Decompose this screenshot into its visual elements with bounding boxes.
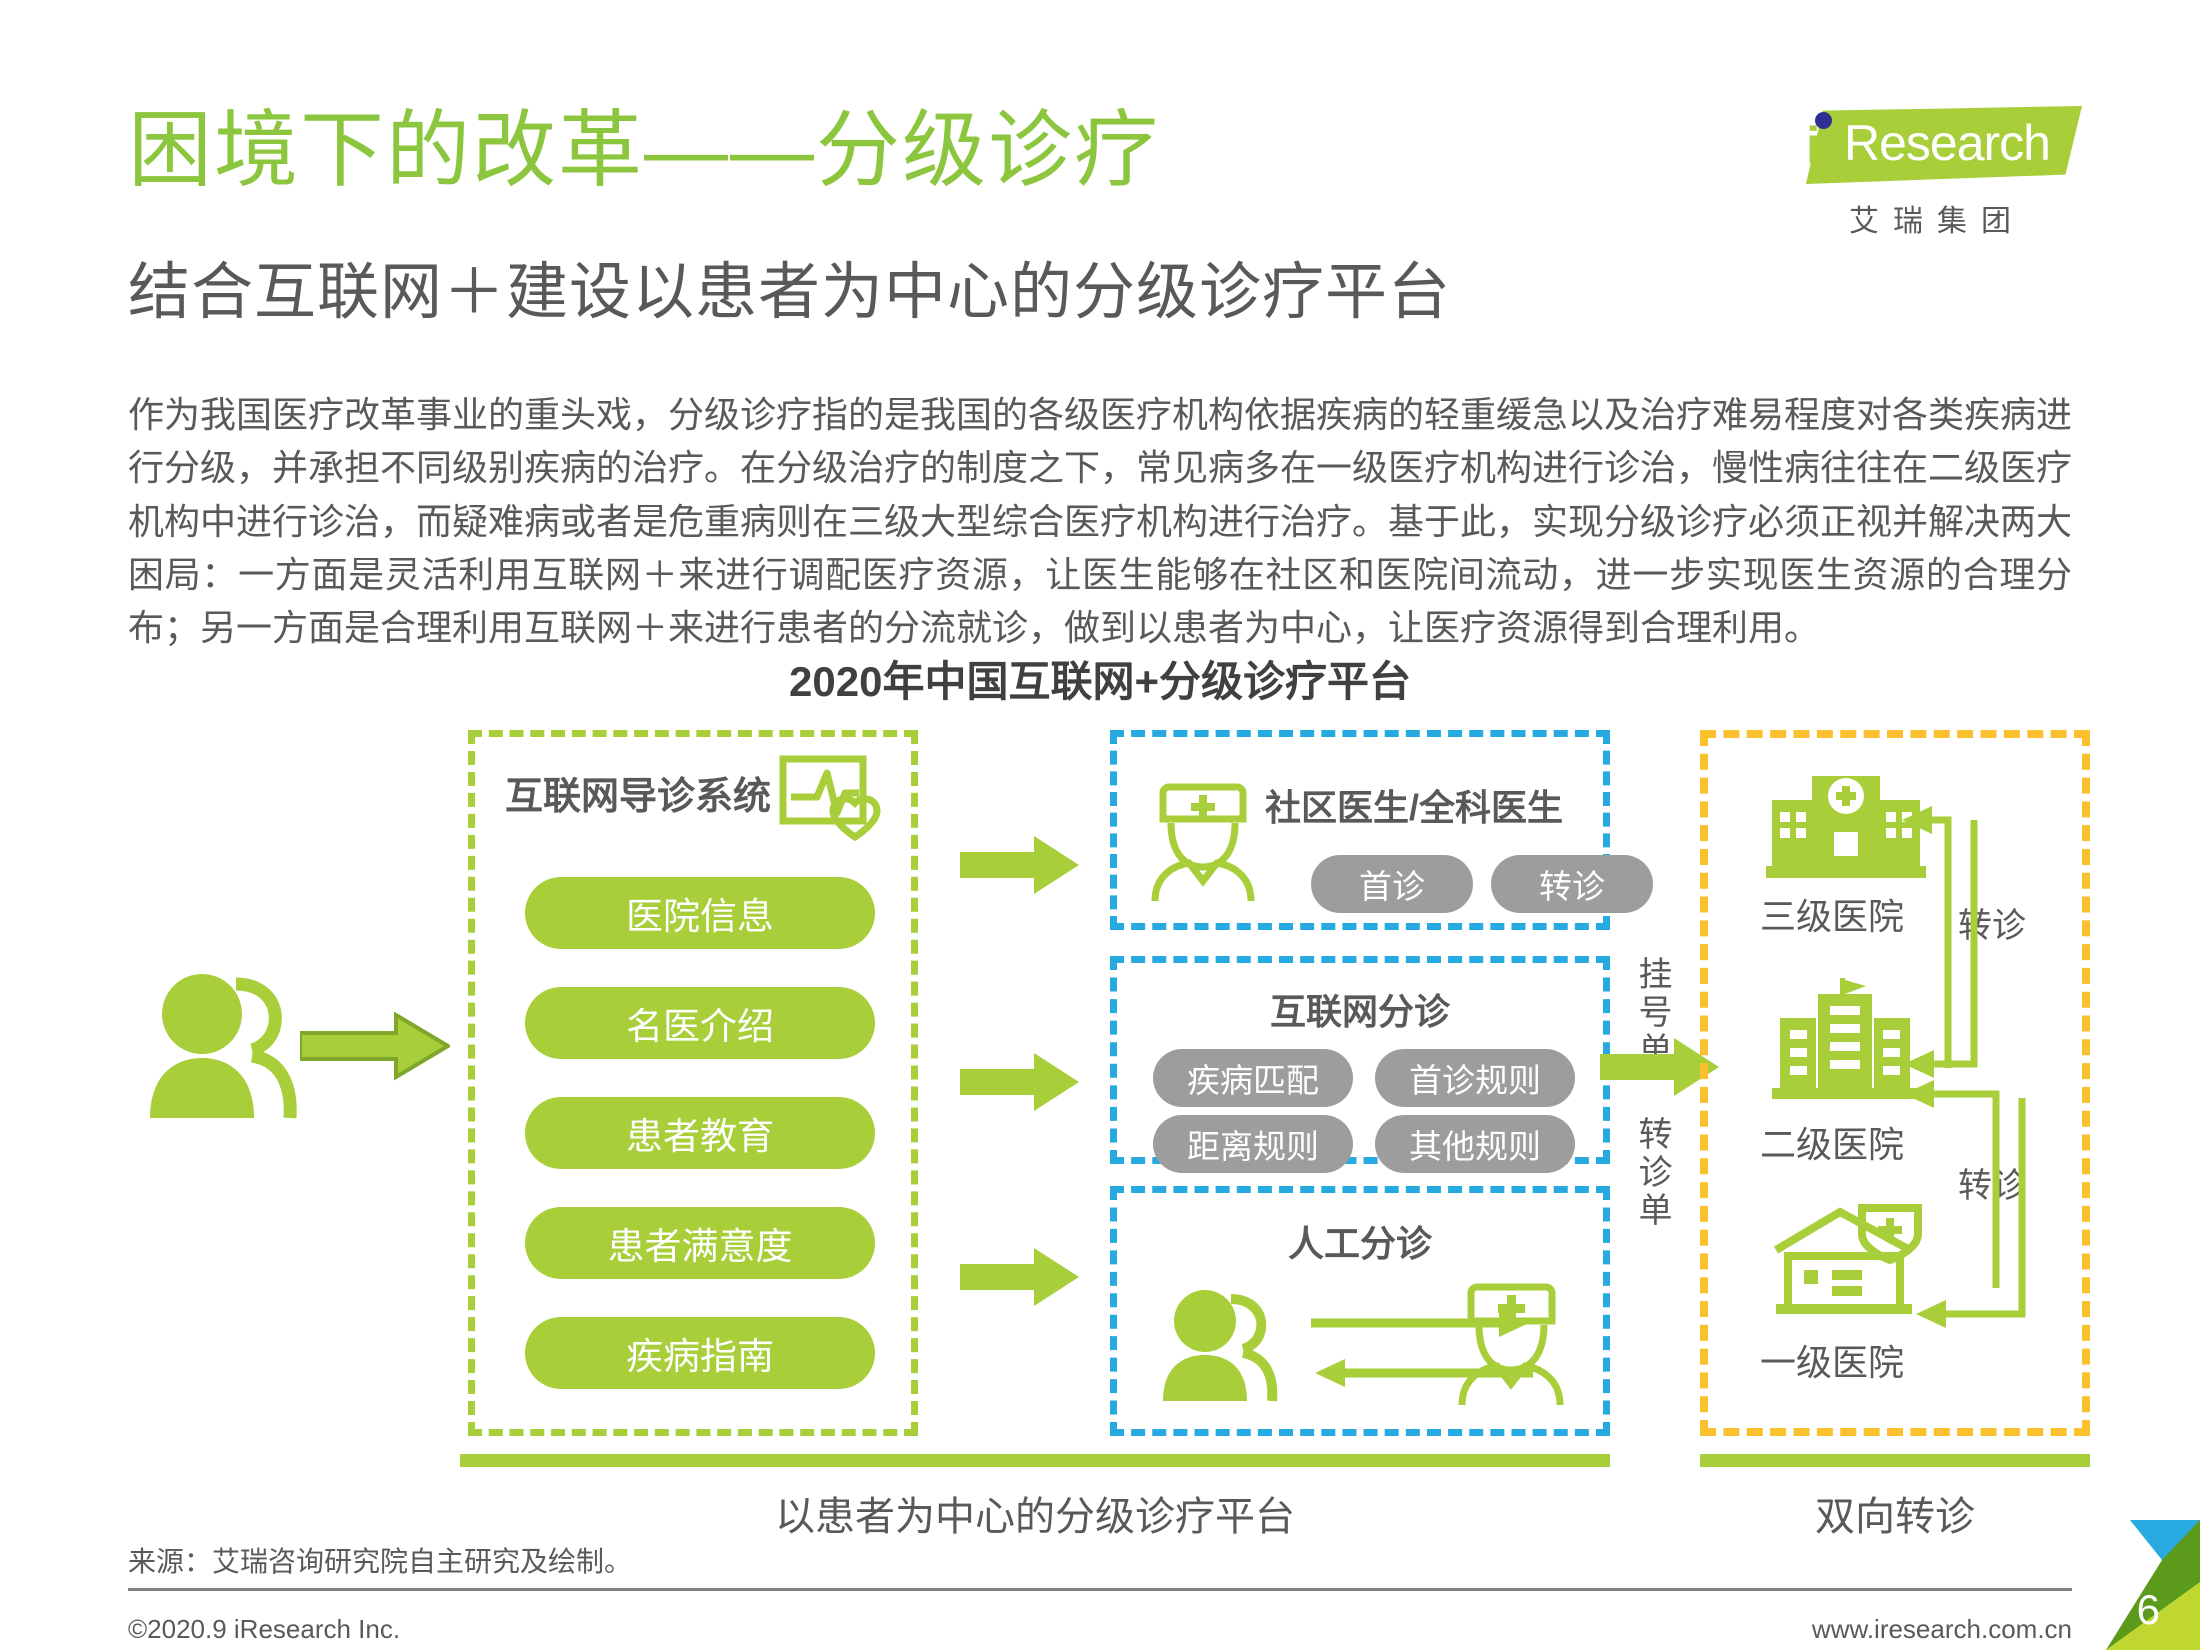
- hospital-level-label-primary: 一级医院: [1760, 1334, 1904, 1386]
- internet-triage-heading: 互联网分诊: [1117, 983, 1603, 1035]
- doctor-icon: [1454, 1275, 1569, 1407]
- guidance-item-hospital-info[interactable]: 医院信息: [525, 877, 875, 949]
- internet-triage-panel: 互联网分诊 疾病匹配 首诊规则 距离规则 其他规则: [1110, 956, 1610, 1164]
- guidance-item-patient-satisfaction[interactable]: 患者满意度: [525, 1207, 875, 1279]
- triage-pill-disease-match[interactable]: 疾病匹配: [1153, 1049, 1353, 1107]
- guidance-item-patient-education[interactable]: 患者教育: [525, 1097, 875, 1169]
- hospital-level-label-secondary: 二级医院: [1760, 1116, 1904, 1168]
- iresearch-logo: i Research 艾瑞集团: [1792, 104, 2082, 244]
- triage-pill-other-rule[interactable]: 其他规则: [1375, 1115, 1575, 1173]
- source-note: 来源：艾瑞咨询研究院自主研究及绘制。: [128, 1540, 632, 1580]
- community-pill-referral[interactable]: 转诊: [1491, 855, 1653, 913]
- flow-arrow-entry-icon: [300, 1011, 450, 1081]
- logo-blue-dot-icon: [1815, 112, 1832, 129]
- two-way-referral-arrows-icon: [1888, 768, 2078, 1348]
- page-subtitle: 结合互联网＋建设以患者为中心的分级诊疗平台: [128, 262, 1451, 324]
- guidance-item-famous-doctors[interactable]: 名医介绍: [525, 987, 875, 1059]
- manual-triage-heading: 人工分诊: [1117, 1215, 1603, 1267]
- triage-pill-distance-rule[interactable]: 距离规则: [1153, 1115, 1353, 1173]
- guidance-item-disease-guide[interactable]: 疾病指南: [525, 1317, 875, 1389]
- ecg-heart-icon: [779, 755, 889, 841]
- flow-arrow-to-community-icon: [960, 834, 1080, 896]
- platform-underline: [460, 1454, 1610, 1467]
- flow-arrow-to-triage-icon: [960, 1051, 1080, 1113]
- flow-arrow-to-manual-triage-icon: [960, 1246, 1080, 1308]
- triage-pill-first-visit-rule[interactable]: 首诊规则: [1375, 1049, 1575, 1107]
- platform-caption: 以患者为中心的分级诊疗平台: [460, 1484, 1610, 1542]
- body-paragraph: 作为我国医疗改革事业的重头戏，分级诊疗指的是我国的各级医疗机构依据疾病的轻重缓急…: [128, 388, 2072, 654]
- connector-label-referral-form: 转诊单: [1628, 1116, 1677, 1230]
- logo-wordmark: Research: [1844, 118, 2050, 168]
- figure-title: 2020年中国互联网+分级诊疗平台: [0, 648, 2200, 709]
- logo-banner-shape: i Research: [1792, 104, 2082, 186]
- community-doctor-heading: 社区医生/全科医生: [1117, 779, 1603, 831]
- referral-underline: [1700, 1454, 2090, 1467]
- community-doctor-panel: 社区医生/全科医生 首诊 转诊: [1110, 730, 1610, 930]
- corner-decoration: [2010, 1520, 2200, 1650]
- hospital-levels-panel: 三级医院 二级医院: [1700, 730, 2090, 1436]
- footer-divider: [128, 1588, 2072, 1591]
- figure-diagram: 互联网导诊系统 医院信息 名医介绍 患者教育 患者满意度 疾病指南: [0, 716, 2200, 1516]
- manual-triage-panel: 人工分诊: [1110, 1186, 1610, 1436]
- page-number: 6: [2137, 1586, 2160, 1634]
- copyright-text: ©2020.9 iResearch Inc.: [128, 1614, 400, 1645]
- slide-page: 困境下的改革——分级诊疗 结合互联网＋建设以患者为中心的分级诊疗平台 i Res…: [0, 0, 2200, 1650]
- community-pill-first-visit[interactable]: 首诊: [1311, 855, 1473, 913]
- hospital-level-label-tertiary: 三级医院: [1760, 888, 1904, 940]
- patient-group-icon: [140, 966, 320, 1126]
- page-title: 困境下的改革——分级诊疗: [128, 108, 1160, 192]
- logo-chinese-name: 艾瑞集团: [1802, 196, 2072, 240]
- internet-guidance-heading: 互联网导诊系统: [505, 765, 771, 820]
- patient-icon: [1157, 1285, 1292, 1405]
- internet-guidance-panel: 互联网导诊系统 医院信息 名医介绍 患者教育 患者满意度 疾病指南: [468, 730, 918, 1436]
